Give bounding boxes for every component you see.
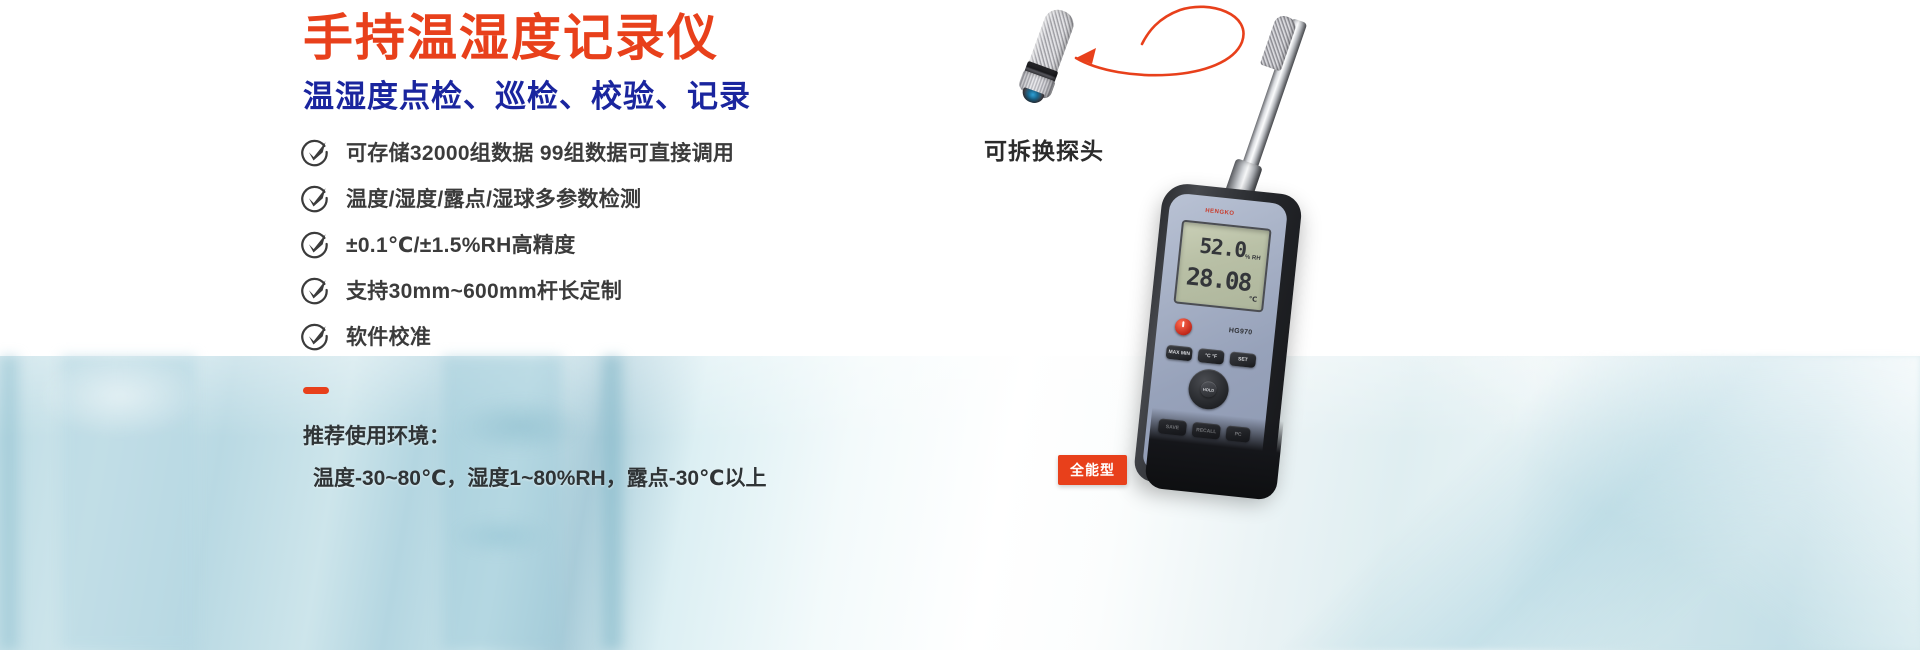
red-dash-divider (303, 387, 329, 394)
brand-logo: HENGKO (1205, 208, 1235, 217)
feature-list: 可存储32000组数据 99组数据可直接调用 温度/湿度/露点/湿球多参数检测 (300, 130, 940, 360)
list-item-label: 软件校准 (346, 321, 431, 351)
lcd-humidity-unit: % RH (1245, 254, 1261, 262)
page-subtitle: 温湿度点检、巡检、校验、记录 (303, 78, 751, 115)
lcd-humidity-value: 52.0 (1198, 234, 1247, 263)
product-image-area: 可拆换探头 HENGKO 52.0 % RH 28.08 ℃ HG970 (960, 0, 1920, 650)
key-max-min[interactable]: MAX MIN (1166, 345, 1193, 362)
check-circle-icon (300, 275, 330, 305)
power-button[interactable] (1174, 317, 1193, 336)
probe-label: 可拆换探头 (984, 132, 1104, 166)
list-item-label: 可存储32000组数据 99组数据可直接调用 (346, 137, 734, 167)
model-label: HG970 (1228, 327, 1252, 336)
product-banner: 手持温湿度记录仪 温湿度点检、巡检、校验、记录 可存储32000组数据 99组数… (0, 0, 1920, 650)
list-item-label: 支持30mm~600mm杆长定制 (346, 275, 622, 305)
check-circle-icon (300, 137, 330, 167)
list-item: 可存储32000组数据 99组数据可直接调用 (300, 130, 940, 174)
lcd-temperature-value: 28.08 (1185, 262, 1252, 297)
key-unit-toggle[interactable]: °C °F (1197, 348, 1224, 365)
environment-detail: 温度-30~80℃，湿度1~80%RH，露点-30℃以上 (313, 462, 767, 492)
lcd-temperature-unit: ℃ (1248, 295, 1257, 304)
lcd-display: 52.0 % RH 28.08 ℃ (1173, 220, 1271, 313)
check-circle-icon (300, 321, 330, 351)
environment-heading: 推荐使用环境： (303, 420, 450, 450)
text-content: 手持温湿度记录仪 温湿度点检、巡检、校验、记录 可存储32000组数据 99组数… (0, 0, 980, 650)
meter-body: HENGKO 52.0 % RH 28.08 ℃ HG970 MAX MIN °… (1133, 182, 1304, 495)
check-circle-icon (300, 229, 330, 259)
list-item: 温度/湿度/露点/湿球多参数检测 (300, 176, 940, 220)
check-circle-icon (300, 183, 330, 213)
page-title: 手持温湿度记录仪 (303, 8, 719, 68)
meter-grip (1144, 408, 1284, 501)
key-set[interactable]: SET (1229, 351, 1256, 368)
list-item-label: ±0.1℃/±1.5%RH高精度 (346, 229, 576, 259)
handheld-meter-image: HENGKO 52.0 % RH 28.08 ℃ HG970 MAX MIN °… (1132, 10, 1322, 510)
list-item: 支持30mm~600mm杆长定制 (300, 268, 940, 312)
list-item-label: 温度/湿度/露点/湿球多参数检测 (346, 183, 641, 213)
status-badge: 全能型 (1058, 455, 1127, 485)
list-item: ±0.1℃/±1.5%RH高精度 (300, 222, 940, 266)
list-item: 软件校准 (300, 314, 940, 358)
meter-faceplate: HENGKO 52.0 % RH 28.08 ℃ HG970 MAX MIN °… (1142, 192, 1288, 481)
